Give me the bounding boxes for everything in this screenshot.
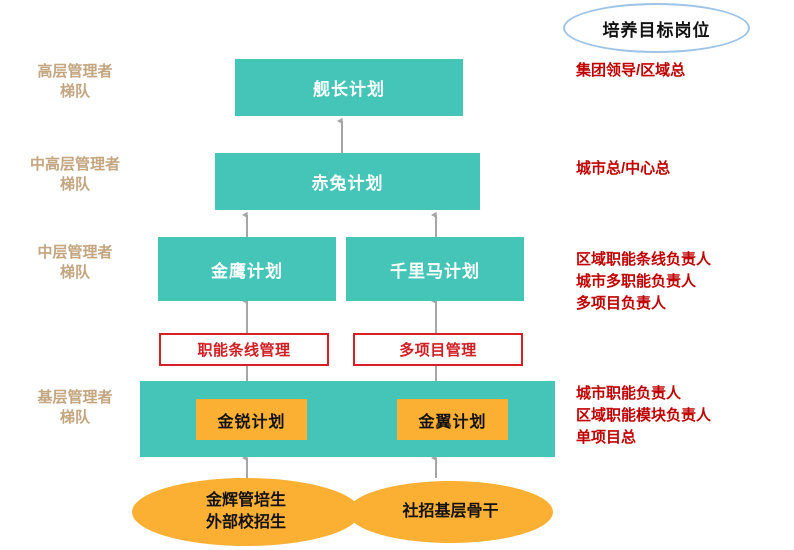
sub-program-box-golden-wing-plan[interactable]: 金翼计划	[397, 399, 508, 440]
program-box-swift-horse-plan[interactable]: 千里马计划	[346, 237, 524, 301]
target-roles-header-ellipse: 培养目标岗位	[563, 3, 750, 53]
tier-label-frontline: 基层管理者 梯队	[0, 388, 150, 428]
source-ellipse-social-recruit-backbone[interactable]: 社招基层骨干	[348, 481, 553, 543]
tier-label-senior: 高层管理者 梯队	[0, 62, 150, 102]
program-label-golden-eagle-plan: 金鹰计划	[211, 257, 283, 282]
capability-box-functional-line-management[interactable]: 职能条线管理	[159, 333, 329, 366]
target-roles-header-label: 培养目标岗位	[603, 16, 711, 41]
program-label-captain-plan: 舰长计划	[313, 75, 385, 100]
source-label-social-recruit-backbone: 社招基层骨干	[402, 501, 498, 523]
program-label-swift-horse-plan: 千里马计划	[390, 257, 480, 282]
diagram-canvas: 培养目标岗位 高层管理者 梯队 中高层管理者 梯队 中层管理者 梯队 基层管理者…	[0, 0, 794, 550]
target-role-upper-middle: 城市总/中心总	[576, 158, 791, 180]
program-box-red-hare-plan[interactable]: 赤兔计划	[215, 153, 480, 210]
capability-label-functional-line-management: 职能条线管理	[197, 339, 290, 360]
program-label-red-hare-plan: 赤兔计划	[312, 169, 384, 194]
source-label-management-trainee-pool: 金辉管培生 外部校招生	[206, 490, 286, 534]
program-box-captain-plan[interactable]: 舰长计划	[235, 59, 463, 116]
target-role-middle: 区域职能条线负责人 城市多职能负责人 多项目负责人	[576, 249, 791, 315]
sub-program-label-golden-edge-plan: 金锐计划	[217, 408, 285, 432]
tier-label-middle: 中层管理者 梯队	[0, 243, 150, 283]
sub-program-box-golden-edge-plan[interactable]: 金锐计划	[196, 399, 307, 440]
capability-label-multi-project-management: 多项目管理	[399, 339, 477, 360]
program-box-golden-eagle-plan[interactable]: 金鹰计划	[158, 237, 336, 301]
target-role-senior: 集团领导/区域总	[576, 60, 791, 82]
sub-program-label-golden-wing-plan: 金翼计划	[418, 408, 486, 432]
tier-label-upper-middle: 中高层管理者 梯队	[0, 155, 150, 195]
source-ellipse-management-trainee-pool[interactable]: 金辉管培生 外部校招生	[132, 478, 360, 546]
target-role-frontline: 城市职能负责人 区域职能模块负责人 单项目总	[576, 383, 791, 449]
capability-box-multi-project-management[interactable]: 多项目管理	[353, 333, 523, 366]
